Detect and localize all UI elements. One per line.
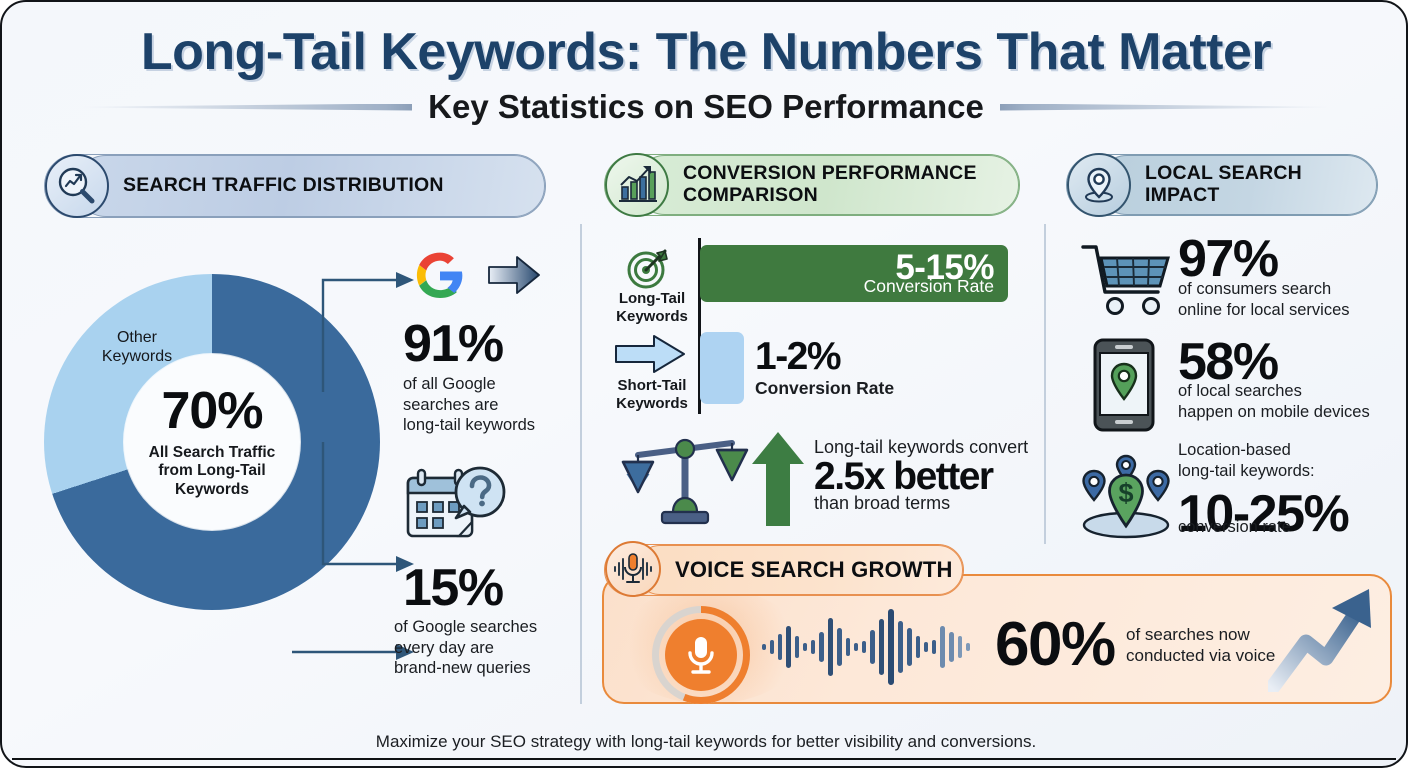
- stat-desc-97: of consumers searchonline for local serv…: [1178, 279, 1408, 320]
- microphone-icon: [665, 619, 737, 691]
- subtitle-row: Key Statistics on SEO Performance: [2, 84, 1408, 130]
- right-arrow-icon-google: [487, 254, 543, 296]
- compare-line2: 2.5x better: [814, 458, 993, 495]
- section-header-voice-search: VOICE SEARCH GROWTH: [604, 544, 964, 596]
- location-dollar-pins-icon: $: [1075, 447, 1177, 539]
- stat-value-91: 91%: [403, 320, 503, 369]
- stat-pretext-10-25: Location-basedlong-tail keywords:: [1178, 440, 1408, 481]
- bar-short-tail: [700, 332, 744, 404]
- shopping-cart-icon: [1080, 240, 1174, 318]
- section-header-conversion: CONVERSION PERFORMANCE COMPARISON: [604, 154, 1020, 216]
- section-title-search-traffic: SEARCH TRAFFIC DISTRIBUTION: [109, 175, 444, 197]
- stat-desc-10-25: conversion rate: [1178, 517, 1408, 538]
- page-subtitle: Key Statistics on SEO Performance: [428, 88, 984, 126]
- stat-value-97: 97%: [1178, 235, 1278, 284]
- voice-stat-value: 60%: [995, 616, 1115, 675]
- donut-center-value: 70%: [161, 385, 262, 437]
- section-title-local-search: LOCAL SEARCH IMPACT: [1131, 163, 1377, 207]
- stat-value-15: 15%: [403, 564, 503, 613]
- donut-center: 70% All Search Trafficfrom Long-TailKeyw…: [124, 354, 300, 530]
- microphone-waveform-icon: [605, 541, 661, 597]
- subtitle-rule-left: [82, 104, 412, 111]
- bar-long-tail: 5-15% Conversion Rate: [700, 245, 1008, 302]
- donut-center-caption: All Search Trafficfrom Long-TailKeywords: [149, 444, 276, 500]
- section-header-local-search: LOCAL SEARCH IMPACT: [1066, 154, 1378, 216]
- stat-desc-91: of all Googlesearches arelong-tail keywo…: [403, 374, 583, 436]
- divider-right: [1044, 224, 1046, 544]
- section-title-voice-search: VOICE SEARCH GROWTH: [661, 558, 953, 583]
- magnifier-trend-icon: [45, 154, 109, 218]
- google-logo-icon: [403, 238, 477, 317]
- bar-value-sub-short-tail: Conversion Rate: [755, 378, 894, 400]
- bar-label-long-tail: Long-TailKeywords: [612, 290, 692, 325]
- bar-value-sub-long-tail: Conversion Rate: [864, 276, 994, 297]
- footer-caption: Maximize your SEO strategy with long-tai…: [2, 732, 1408, 752]
- stat-desc-58: of local searcheshappen on mobile device…: [1178, 381, 1408, 422]
- audio-waveform-icon: [762, 602, 984, 692]
- infographic-card: Long-Tail Keywords: The Numbers That Mat…: [0, 0, 1408, 768]
- up-arrow-icon: [750, 430, 806, 530]
- bar-chart-growth-icon: [605, 153, 669, 217]
- page-title: Long-Tail Keywords: The Numbers That Mat…: [2, 22, 1408, 82]
- compare-line3: than broad terms: [814, 492, 950, 515]
- svg-text:$: $: [1118, 478, 1133, 508]
- calendar-question-icon: [402, 462, 508, 555]
- donut-slice-label-other: OtherKeywords: [82, 328, 192, 366]
- right-arrow-icon-short-tail: [614, 334, 688, 374]
- subtitle-rule-right: [1000, 104, 1330, 111]
- upward-trend-arrow-icon: [1268, 584, 1384, 692]
- section-title-conversion: CONVERSION PERFORMANCE COMPARISON: [669, 163, 1019, 207]
- stat-desc-15: of Google searchesevery day arebrand-new…: [394, 617, 594, 679]
- stat-value-58: 58%: [1178, 338, 1278, 387]
- footer-rule: [12, 758, 1396, 760]
- mobile-pin-icon: [1092, 337, 1156, 433]
- map-pin-icon: [1067, 153, 1131, 217]
- bar-value-short-tail: 1-2%: [755, 338, 840, 375]
- balance-scale-icon: [620, 430, 750, 532]
- section-header-search-traffic: SEARCH TRAFFIC DISTRIBUTION: [44, 154, 546, 218]
- bar-label-short-tail: Short-TailKeywords: [612, 377, 692, 412]
